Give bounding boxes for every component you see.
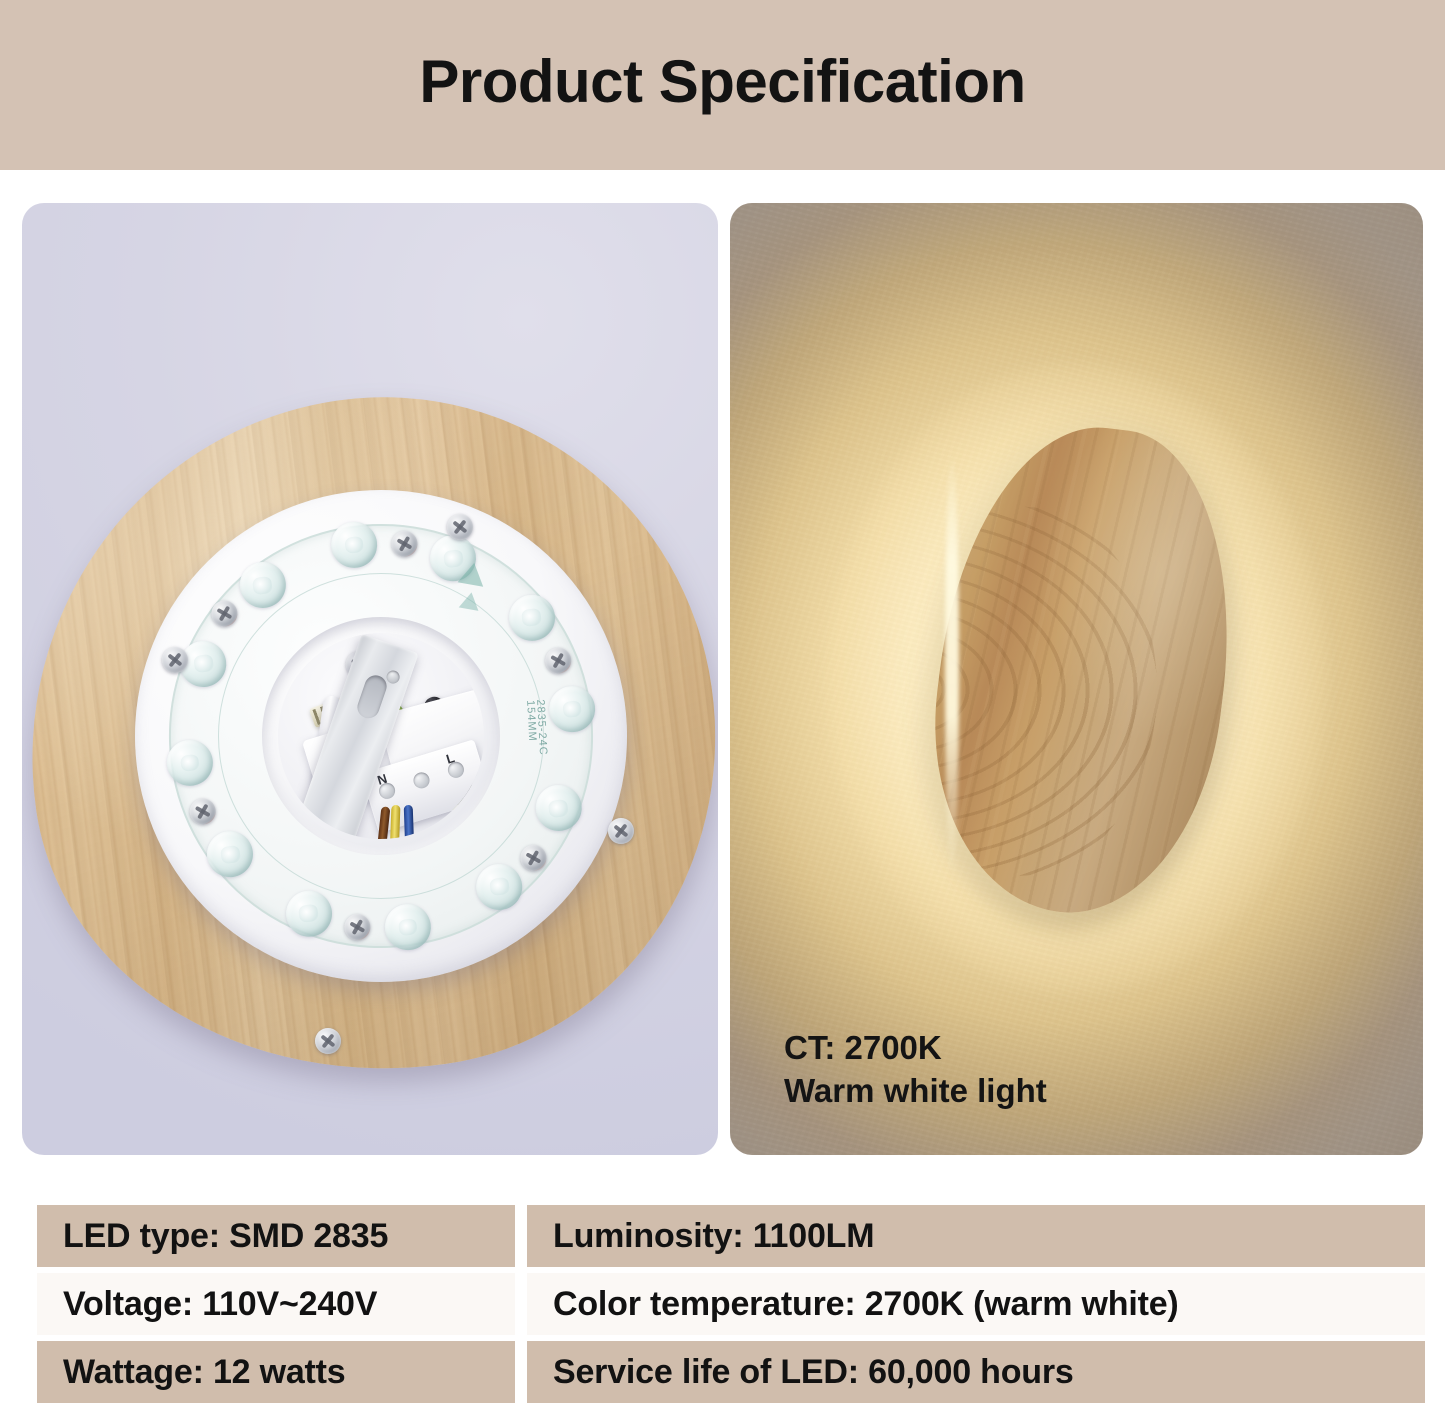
pcb-screw <box>519 844 548 873</box>
well-floor: N L <box>265 620 497 852</box>
led-lens <box>164 737 216 789</box>
spec-cell-color-temperature: Color temperature: 2700K (warm white) <box>527 1273 1425 1335</box>
led-lens <box>204 829 256 881</box>
specification-table: LED type: SMD 2835 Luminosity: 1100LM Vo… <box>37 1205 1425 1403</box>
pcb-screw <box>342 913 371 942</box>
table-row: Wattage: 12 watts Service life of LED: 6… <box>37 1341 1425 1403</box>
led-lens <box>532 782 584 834</box>
plate-screw <box>162 647 188 673</box>
photo-led-module: 154MM 2835-24C <box>22 203 718 1155</box>
led-lens <box>283 887 335 939</box>
page-title: Product Specification <box>419 52 1025 118</box>
led-lens <box>382 901 434 953</box>
led-lens <box>506 592 558 644</box>
spec-cell-wattage: Wattage: 12 watts <box>37 1341 515 1403</box>
bracket-hole <box>385 668 402 685</box>
led-lens <box>546 683 598 735</box>
spec-cell-led-type: LED type: SMD 2835 <box>37 1205 515 1267</box>
photo-lit-sconce: CT: 2700K Warm white light <box>730 203 1423 1155</box>
color-temperature-caption: CT: 2700K Warm white light <box>784 1026 1047 1113</box>
pcb-screw <box>210 599 239 628</box>
spec-cell-service-life: Service life of LED: 60,000 hours <box>527 1341 1425 1403</box>
caption-line-warm-white: Warm white light <box>784 1069 1047 1113</box>
warning-triangle-icon <box>459 591 482 611</box>
page-header: Product Specification <box>0 0 1445 170</box>
terminal-screw <box>412 770 432 790</box>
led-lens <box>237 559 289 611</box>
sconce-shading <box>913 411 1254 928</box>
pcb-screw <box>189 797 218 826</box>
rim-light <box>945 451 959 879</box>
spec-cell-voltage: Voltage: 110V~240V <box>37 1273 515 1335</box>
warning-triangle-icon <box>457 560 486 586</box>
plate-screw <box>608 818 634 844</box>
plate-screw <box>315 1028 341 1054</box>
wooden-sconce-cover <box>913 411 1254 928</box>
wire-yellow <box>389 805 400 852</box>
spec-cell-luminosity: Luminosity: 1100LM <box>527 1205 1425 1267</box>
table-row: Voltage: 110V~240V Color temperature: 27… <box>37 1273 1425 1335</box>
bracket-slot <box>354 672 389 721</box>
pcb-print-model: 2835-24C <box>534 699 549 756</box>
led-lens <box>328 519 380 571</box>
product-photo-row: 154MM 2835-24C <box>0 170 1445 1170</box>
led-pcb-ring: 154MM 2835-24C <box>142 497 620 975</box>
caption-line-ct: CT: 2700K <box>784 1026 1047 1070</box>
pcb-screw <box>390 530 419 559</box>
table-row: LED type: SMD 2835 Luminosity: 1100LM <box>37 1205 1425 1267</box>
plate-screw <box>447 514 473 540</box>
led-lens <box>473 861 525 913</box>
pcb-screw <box>544 646 573 675</box>
